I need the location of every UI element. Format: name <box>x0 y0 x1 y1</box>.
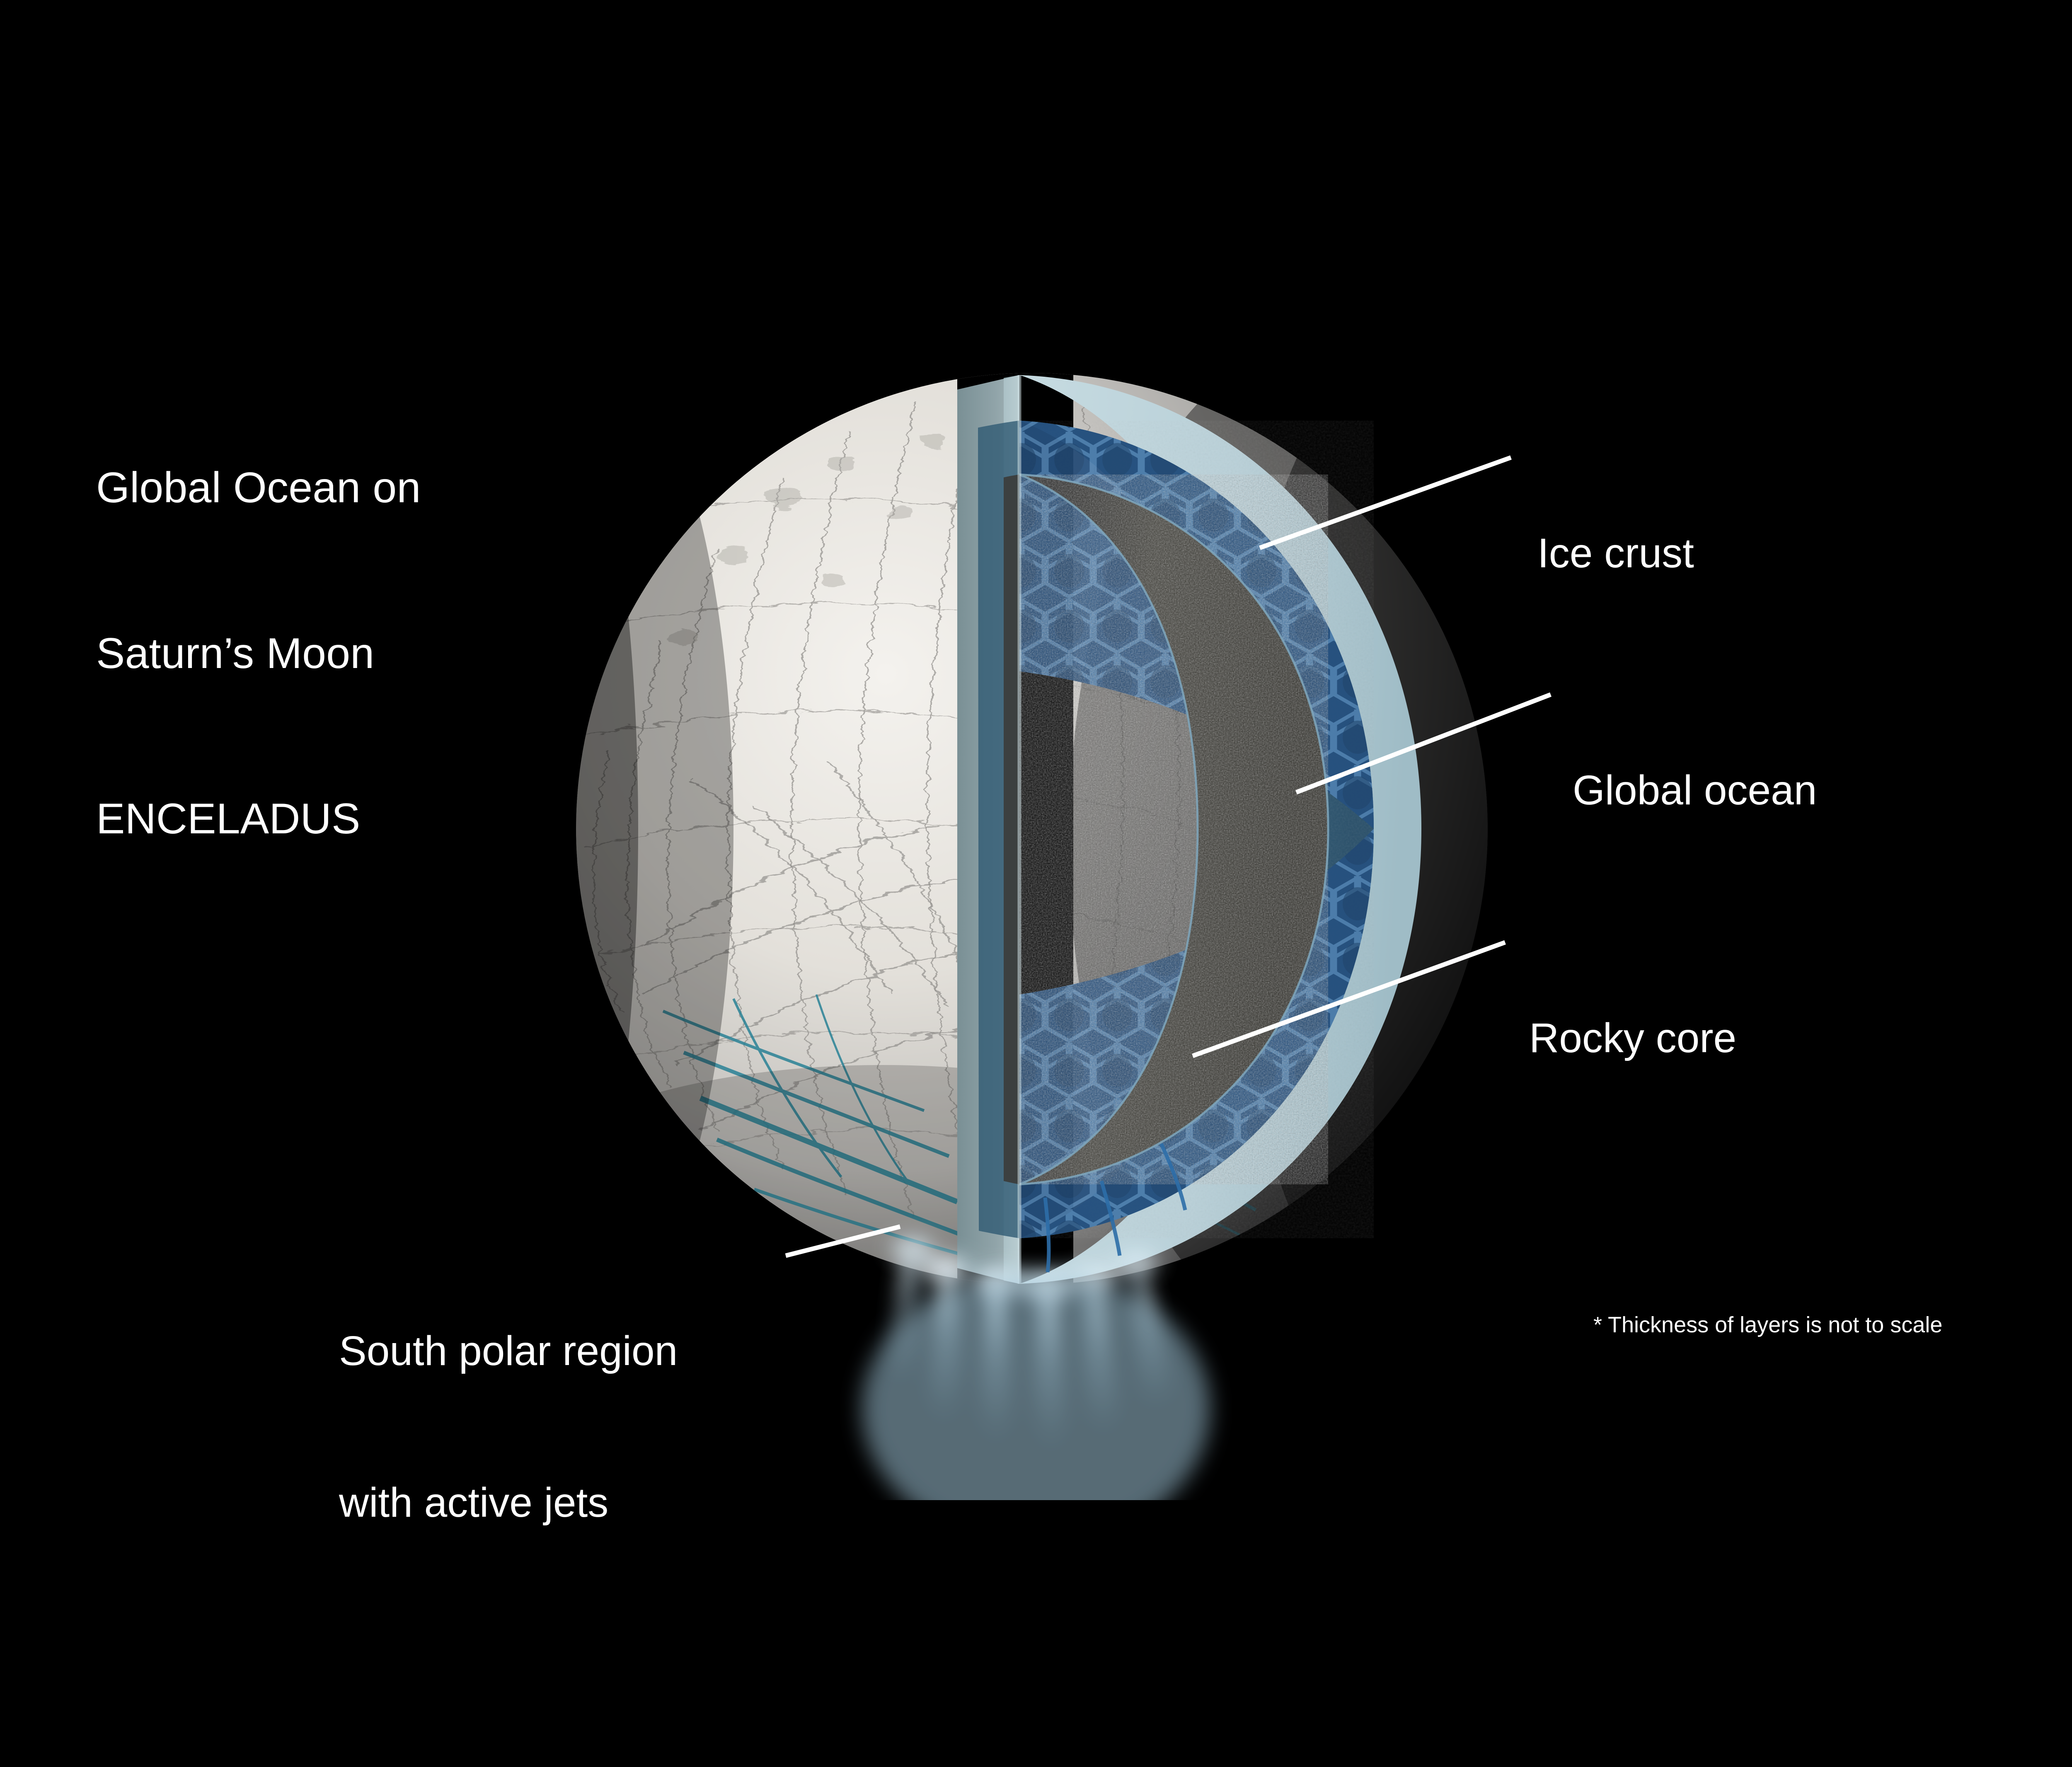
scene-background: Global Ocean on Saturn’s Moon ENCELADUS … <box>0 0 2072 1767</box>
scale-footnote: * Thickness of layers is not to scale <box>1593 1312 1942 1339</box>
page-title: Global Ocean on Saturn’s Moon ENCELADUS <box>96 350 421 957</box>
callout-label-south-polar-line-2: with active jets <box>339 1477 678 1528</box>
callout-label-rocky-core: Rocky core <box>1529 1013 1736 1063</box>
cut-plane-core-face <box>1004 474 1019 1184</box>
callout-label-ice-crust: Ice crust <box>1537 528 1694 579</box>
callout-ice-crust: Ice crust <box>1537 427 1694 680</box>
callout-rocky-core: Rocky core <box>1529 912 1736 1164</box>
callout-south-polar-region: South polar region with active jets <box>339 1225 678 1629</box>
title-line-3: ENCELADUS <box>96 792 421 847</box>
callout-label-global-ocean: Global ocean <box>1573 765 1817 816</box>
title-line-1: Global Ocean on <box>96 460 421 516</box>
enceladus-cutaway-illustration <box>576 373 1488 1285</box>
south-polar-jets <box>862 1239 1210 1500</box>
callout-label-south-polar-line-1: South polar region <box>339 1326 678 1376</box>
title-line-2: Saturn’s Moon <box>96 626 421 681</box>
callout-global-ocean: Global ocean <box>1573 664 1817 917</box>
